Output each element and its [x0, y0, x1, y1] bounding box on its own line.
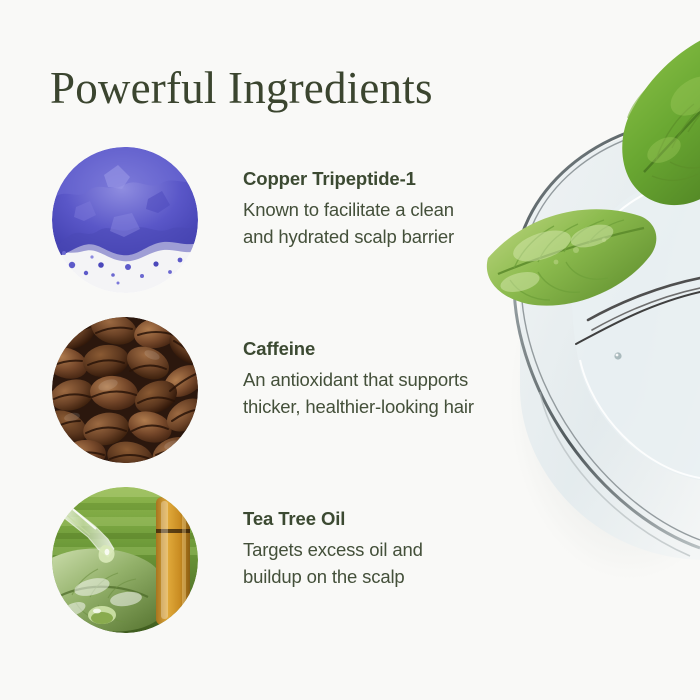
ingredient-text-block: Caffeine An antioxidant that supports th… — [243, 337, 573, 420]
ingredient-name: Copper Tripeptide-1 — [243, 167, 573, 191]
ingredient-text-block: Tea Tree Oil Targets excess oil and buil… — [243, 507, 573, 590]
infographic-canvas: Powerful Ingredients — [0, 0, 700, 700]
ingredient-description: Known to facilitate a clean and hydrated… — [243, 196, 573, 250]
ingredient-name: Tea Tree Oil — [243, 507, 573, 531]
ingredient-row: Tea Tree Oil Targets excess oil and buil… — [52, 487, 652, 633]
coffee-beans-photo — [52, 317, 198, 463]
blue-powder-photo — [52, 147, 198, 293]
ingredient-name: Caffeine — [243, 337, 573, 361]
ingredient-row: Caffeine An antioxidant that supports th… — [52, 317, 652, 463]
ingredient-text-block: Copper Tripeptide-1 Known to facilitate … — [243, 167, 573, 250]
ingredient-description: An antioxidant that supports thicker, he… — [243, 366, 573, 420]
ingredient-row: Copper Tripeptide-1 Known to facilitate … — [52, 147, 652, 293]
tea-tree-oil-photo — [52, 487, 198, 633]
ingredient-description: Targets excess oil and buildup on the sc… — [243, 536, 573, 590]
page-title: Powerful Ingredients — [50, 62, 433, 114]
